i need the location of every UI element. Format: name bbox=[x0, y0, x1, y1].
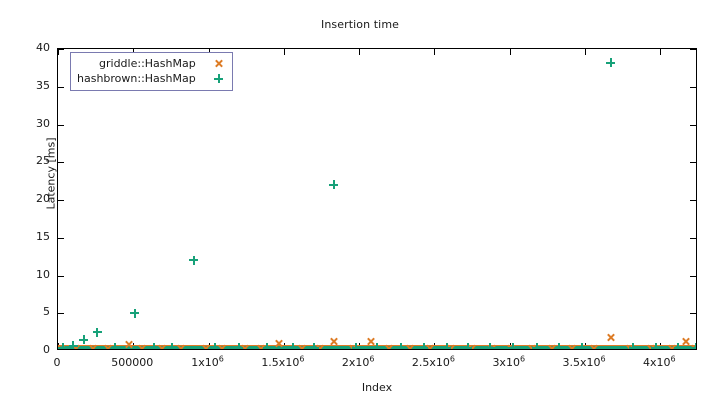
data-point-plus-marker bbox=[606, 58, 615, 67]
data-point-plus-marker bbox=[234, 343, 243, 349]
y-tick-label: 0 bbox=[4, 343, 50, 356]
data-point-x-marker bbox=[406, 344, 415, 349]
data-point-plus-marker bbox=[629, 343, 638, 349]
data-point-plus-marker bbox=[532, 343, 541, 349]
data-point-x-marker bbox=[329, 337, 338, 346]
y-tick-mark bbox=[690, 49, 696, 50]
data-point-plus-marker bbox=[310, 343, 319, 349]
legend-marker-x-icon bbox=[212, 57, 226, 71]
data-point-x-marker bbox=[606, 333, 615, 342]
data-point-plus-marker bbox=[263, 343, 272, 349]
data-point-x-marker bbox=[590, 344, 599, 349]
data-point-x-marker bbox=[177, 344, 186, 349]
data-point-plus-marker bbox=[329, 180, 338, 189]
data-point-x-marker bbox=[138, 344, 147, 349]
x-tick-mark bbox=[359, 49, 360, 55]
x-tick-mark bbox=[510, 49, 511, 55]
data-point-plus-marker bbox=[288, 343, 297, 349]
data-point-x-marker bbox=[367, 337, 376, 346]
data-point-x-marker bbox=[447, 344, 456, 349]
x-tick-mark bbox=[434, 49, 435, 55]
data-point-plus-marker bbox=[463, 343, 472, 349]
data-point-x-marker bbox=[647, 344, 656, 349]
data-point-x-marker bbox=[58, 344, 66, 349]
data-point-x-marker bbox=[487, 344, 496, 349]
data-point-x-marker bbox=[349, 344, 358, 349]
x-tick-mark bbox=[585, 343, 586, 349]
data-point-x-marker bbox=[240, 344, 249, 349]
chart-title: Insertion time bbox=[0, 18, 720, 31]
y-tick-label: 10 bbox=[4, 268, 50, 281]
data-point-plus-marker bbox=[79, 335, 88, 344]
x-axis-label: Index bbox=[57, 381, 697, 394]
y-tick-label: 30 bbox=[4, 117, 50, 130]
y-tick-label: 35 bbox=[4, 79, 50, 92]
x-tick-mark bbox=[434, 343, 435, 349]
data-point-x-marker bbox=[690, 344, 696, 349]
data-point-x-marker bbox=[668, 344, 677, 349]
y-tick-mark bbox=[58, 276, 64, 277]
plot-inner bbox=[58, 49, 696, 349]
data-point-plus-marker bbox=[419, 343, 428, 349]
data-point-x-marker bbox=[297, 344, 306, 349]
y-tick-mark bbox=[690, 125, 696, 126]
data-point-x-marker bbox=[72, 344, 81, 349]
data-point-plus-marker bbox=[486, 343, 495, 349]
data-point-plus-marker bbox=[189, 256, 198, 265]
x-tick-label: 4x106 bbox=[604, 356, 714, 369]
x-tick-mark bbox=[209, 343, 210, 349]
y-tick-mark bbox=[690, 200, 696, 201]
data-point-plus-marker bbox=[111, 343, 120, 349]
chart-figure: Insertion time Latency [ms] Index 051015… bbox=[0, 0, 720, 405]
legend-item-griddle: griddle::HashMap bbox=[77, 56, 226, 71]
data-point-x-marker bbox=[547, 344, 556, 349]
data-point-plus-marker bbox=[93, 328, 102, 337]
data-point-x-marker bbox=[507, 344, 516, 349]
data-point-x-marker bbox=[88, 344, 97, 349]
dense-sample-band bbox=[58, 345, 696, 348]
y-tick-mark bbox=[690, 87, 696, 88]
y-tick-label: 15 bbox=[4, 230, 50, 243]
data-point-plus-marker bbox=[210, 343, 219, 349]
data-point-x-marker bbox=[218, 344, 227, 349]
x-tick-mark bbox=[359, 343, 360, 349]
data-point-plus-marker bbox=[69, 341, 78, 349]
legend-label-griddle: griddle::HashMap bbox=[99, 57, 212, 70]
y-tick-label: 40 bbox=[4, 41, 50, 54]
data-point-x-marker bbox=[385, 344, 394, 349]
data-point-x-marker bbox=[681, 337, 690, 346]
data-point-plus-marker bbox=[651, 343, 660, 349]
y-tick-mark bbox=[690, 313, 696, 314]
data-point-plus-marker bbox=[150, 343, 159, 349]
data-point-plus-marker bbox=[130, 309, 139, 318]
legend-label-hashbrown: hashbrown::HashMap bbox=[77, 72, 212, 85]
data-point-plus-marker bbox=[397, 343, 406, 349]
data-point-x-marker bbox=[257, 344, 266, 349]
y-tick-mark bbox=[58, 87, 64, 88]
data-point-plus-marker bbox=[168, 343, 177, 349]
x-tick-mark bbox=[284, 49, 285, 55]
data-point-plus-marker bbox=[373, 343, 382, 349]
y-tick-mark bbox=[690, 162, 696, 163]
chart-legend: griddle::HashMap hashbrown::HashMap bbox=[70, 52, 233, 91]
y-tick-label: 25 bbox=[4, 154, 50, 167]
x-tick-mark bbox=[660, 49, 661, 55]
data-point-x-marker bbox=[157, 344, 166, 349]
x-tick-mark bbox=[510, 343, 511, 349]
data-point-x-marker bbox=[124, 340, 133, 349]
y-tick-mark bbox=[58, 238, 64, 239]
data-point-plus-marker bbox=[555, 343, 564, 349]
data-point-x-marker bbox=[567, 344, 576, 349]
legend-item-hashbrown: hashbrown::HashMap bbox=[77, 71, 226, 86]
x-tick-mark bbox=[585, 49, 586, 55]
data-point-x-marker bbox=[275, 339, 284, 348]
data-point-plus-marker bbox=[58, 343, 67, 349]
data-point-x-marker bbox=[468, 344, 477, 349]
plot-area bbox=[57, 48, 697, 350]
y-tick-mark bbox=[690, 238, 696, 239]
y-tick-label: 20 bbox=[4, 192, 50, 205]
x-tick-mark bbox=[660, 343, 661, 349]
data-point-plus-marker bbox=[674, 343, 683, 349]
legend-marker-plus-icon bbox=[212, 72, 226, 86]
data-point-plus-marker bbox=[692, 343, 696, 349]
data-point-x-marker bbox=[626, 344, 635, 349]
data-point-x-marker bbox=[316, 344, 325, 349]
data-point-x-marker bbox=[103, 344, 112, 349]
y-tick-mark bbox=[58, 162, 64, 163]
y-tick-mark bbox=[690, 276, 696, 277]
x-tick-mark bbox=[133, 343, 134, 349]
data-point-x-marker bbox=[528, 344, 537, 349]
y-tick-label: 5 bbox=[4, 305, 50, 318]
x-tick-mark bbox=[284, 343, 285, 349]
data-point-x-marker bbox=[425, 344, 434, 349]
x-tick-mark bbox=[58, 49, 59, 55]
y-tick-mark bbox=[58, 125, 64, 126]
dense-sample-band bbox=[58, 346, 696, 349]
y-tick-mark bbox=[58, 313, 64, 314]
y-tick-mark bbox=[58, 200, 64, 201]
x-tick-mark bbox=[58, 343, 59, 349]
data-point-plus-marker bbox=[442, 343, 451, 349]
